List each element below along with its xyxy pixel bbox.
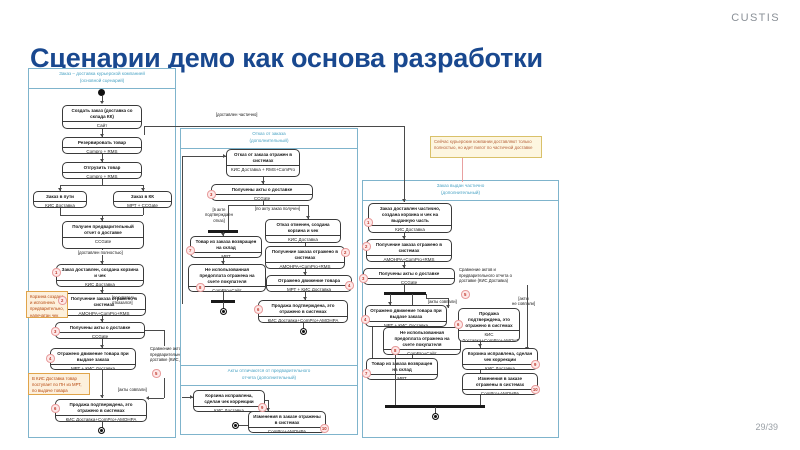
node-sale-confirmed-partial-system: КИС Доставка+ComPro+АМОНРА [459, 330, 519, 342]
arrow-goodsmove-sale [100, 395, 104, 398]
node-changes-reflected-system: ComPro+АМОНРА [249, 427, 325, 433]
node-order-received-partial-title: Получение заказа отражено в системах [367, 240, 451, 255]
end-node-main [98, 427, 105, 434]
node-refusal-cancelled[interactable]: Отказ отменен, создана корзина и чек КИС… [265, 219, 341, 243]
node-goods-move-refusal[interactable]: Отражено движение товара МРТ + КИС Доста… [266, 275, 352, 292]
edge-changes-partial-down [480, 395, 481, 405]
company-logo: CUSTIS [731, 12, 780, 24]
node-acts-received-partial-title: Получены акты о доставке [364, 269, 454, 278]
guard-acts-not-matched-partial: [акты не совпали] [512, 296, 535, 307]
node-in-transit-system: КИС Доставка [34, 201, 86, 208]
node-order-received-partial-system: АМОНРА+ComPro+RMS [367, 255, 451, 262]
end-node-refusal-2 [220, 308, 227, 315]
node-in-transit[interactable]: Заказ в пути КИС Доставка [33, 191, 87, 208]
node-sale-confirmed-title: Продажа подтверждена, это отражено в сис… [56, 400, 146, 415]
node-create-order-system: Сайт [63, 121, 141, 129]
node-goods-move-title: Отражено движение товара при выдаче зака… [51, 349, 135, 364]
lane-refusal-title-line1: Отказ от заказа [252, 131, 285, 136]
arrow-into-actsdiff [190, 395, 193, 399]
node-partial-delivered-system: КИС Доставка [369, 225, 451, 233]
guard-acts-matched-main: [акты совпали] [118, 387, 147, 392]
node-acts-received-refusal-system: CCGate [212, 194, 312, 201]
guard-act-confirms-refusal-l2: подтверждаен [205, 212, 233, 217]
node-changes-reflected-partial-title: Изменения в заказе отражены в системах [463, 374, 537, 389]
start-node-main [98, 89, 105, 96]
edge-gm-partial-left [372, 327, 373, 358]
node-sale-confirmed-refusal-title: Продажа подтверждена, это отражено в сис… [259, 301, 347, 316]
node-goods-move-partial-title: Отражено движение товара при выдаче зака… [366, 306, 446, 321]
note-courier-pilot: Сейчас курьерские компании доставляют то… [430, 136, 542, 158]
step-badge-3-main: 3 [51, 327, 60, 336]
node-goods-move-partial[interactable]: Отражено движение товара при выдаче зака… [365, 305, 447, 327]
guard-delivered-partial-l1: [доставлен частично] [216, 112, 257, 117]
lane-main-title: Заказ – доставка курьерской компанией (о… [29, 69, 175, 89]
arrow-cart-changes [266, 408, 270, 411]
step-badge-9-acts: 9 [258, 403, 267, 412]
node-cart-corrected[interactable]: Корзина исправлена, сделан чек коррекции… [193, 390, 265, 412]
node-sale-confirmed-partial-title: Продажа подтверждена, это отражено в сис… [459, 309, 519, 330]
node-order-received-refusal[interactable]: Получение заказа отражено в системах АМО… [265, 246, 345, 269]
edge-changes-end [238, 425, 248, 426]
lane-acts-diff-title-line2: отчета (дополнительный) [242, 375, 296, 380]
node-partial-delivered-title: Заказ доставлен частично, создана корзин… [369, 204, 451, 225]
step-badge-10-acts: 10 [320, 424, 329, 433]
node-in-transit-title: Заказ в пути [34, 192, 86, 201]
node-refusal-cancelled-title: Отказ отменен, создана корзина и чек [266, 220, 340, 235]
node-cart-corrected-partial[interactable]: Корзина исправлена, сделан чек коррекции… [462, 348, 538, 370]
edge-goodsret-partial-join [395, 380, 396, 405]
node-goods-move-refusal-title: Отражено движение товара [267, 276, 351, 285]
node-ship-system: Compro + RMS [63, 172, 141, 179]
node-goods-returned-refusal-title: Товар из заказа возвращен на склад [191, 237, 261, 252]
step-badge-8-partial: 8 [391, 346, 400, 355]
end-node-partial [432, 413, 439, 420]
step-badge-3-refusal: 3 [207, 190, 216, 199]
guard-act-confirms-refusal-l1: [в акте [212, 207, 225, 212]
guard-buyer-refused: [покупатель отказался] [112, 295, 146, 306]
step-badge-6-partial: 6 [454, 320, 463, 329]
diagram-canvas: Заказ – доставка курьерской компанией (о… [0, 60, 800, 450]
node-in-kk-title: Заказ в КК [114, 192, 171, 201]
edge-acts-partial-down [404, 285, 405, 292]
arrow-into-refusal [223, 154, 226, 158]
guard-delivered-full: [доставлен полностью] [78, 250, 123, 255]
step-badge-1-partial: 1 [364, 218, 373, 227]
node-create-order[interactable]: Создать заказ (доставка со склада КК) Са… [62, 105, 142, 129]
node-prelim-report[interactable]: Получен предварительный отчет о доставке… [62, 221, 144, 249]
step-badge-3-partial: 3 [359, 274, 368, 283]
edge-into-refusal-v [182, 156, 183, 304]
arrow-into-partial [402, 199, 406, 202]
edge-prelim-to-partial [144, 126, 404, 127]
node-prelim-report-title: Получен предварительный отчет о доставке [63, 222, 143, 237]
edge-notmatched-v2 [527, 308, 528, 350]
node-order-received-partial[interactable]: Получение заказа отражено в системах АМО… [366, 239, 452, 262]
node-acts-received-refusal-title: Получены акты о доставке [212, 185, 312, 194]
guard-act-order-received: [по акту заказ получен] [255, 206, 300, 211]
lane-refusal-title-line2: (дополнительный) [250, 138, 289, 143]
lane-refusal-title: Отказ от заказа (дополнительный) [181, 129, 357, 149]
node-delivered-title: Заказ доставлен, создана корзина и чек [57, 265, 143, 280]
node-goods-returned-partial-title: Товар из заказа возвращен на склад [367, 359, 437, 374]
node-order-received-refusal-title: Получение заказа отражено в системах [266, 247, 344, 262]
edge-compare-main-tail [164, 378, 165, 398]
step-badge-2-partial: 2 [362, 242, 371, 251]
edge-acts-to-compare [145, 330, 164, 331]
node-goods-move-system: МРТ + КИС Доставка [51, 364, 135, 370]
node-refusal-cancelled-system: КИС Доставка [266, 235, 340, 243]
step-badge-2-main: 2 [58, 296, 67, 305]
node-ship[interactable]: Отгрузить товар Compro + RMS [62, 162, 142, 179]
node-in-kk[interactable]: Заказ в КК МРТ + CCGate [113, 191, 172, 208]
guard-acts-matched-partial: [акты совпали] [428, 299, 457, 304]
step-badge-2-refusal: 2 [341, 248, 350, 257]
end-node-acts-diff [232, 422, 239, 429]
node-refusal-reflected-title: Отказ от заказа отражен в системах [227, 150, 299, 165]
step-badge-4-partial: 4 [361, 315, 370, 324]
step-badge-7-partial: 7 [362, 369, 371, 378]
node-acts-received-refusal[interactable]: Получены акты о доставке CCGate [211, 184, 313, 201]
compare-partial: Сравнение актов и предварительного отчет… [459, 267, 515, 284]
guard-acts-not-matched-l2: не совпали] [512, 301, 535, 306]
node-refusal-reflected[interactable]: Отказ от заказа отражен в системах КИС Д… [226, 149, 300, 177]
node-changes-reflected-title: Изменения в заказе отражены в системах [249, 412, 325, 427]
step-badge-5-main: 5 [152, 369, 161, 378]
guard-act-confirms-refusal-l3: отказ] [213, 218, 224, 223]
node-partial-delivered[interactable]: Заказ доставлен частично, создана корзин… [368, 203, 452, 233]
lane-partial-title-line1: Заказ выдан частично [437, 183, 485, 188]
step-badge-6-refusal: 6 [254, 305, 263, 314]
node-in-kk-system: МРТ + CCGate [114, 201, 171, 208]
node-ship-title: Отгрузить товар [63, 163, 141, 172]
node-acts-received-partial[interactable]: Получены акты о доставке CCGate [363, 268, 455, 285]
node-sale-confirmed-refusal-system: КИС Доставка+ComPro+АМОНРА [259, 316, 347, 323]
guard-delivered-partial: [доставлен частично] [216, 112, 257, 117]
edge-prelim-up [144, 126, 145, 135]
node-goods-move[interactable]: Отражено движение товара при выдаче зака… [50, 348, 136, 370]
node-prelim-report-system: CCGate [63, 237, 143, 247]
node-reserve-system: Compro + RMS [63, 147, 141, 154]
node-delivered-system: КИС Доставка [57, 280, 143, 287]
node-goods-returned-partial[interactable]: Товар из заказа возвращен на склад МРТ [366, 358, 438, 380]
step-badge-6-main: 6 [51, 404, 60, 413]
node-changes-reflected[interactable]: Изменения в заказе отражены в системах C… [248, 411, 326, 433]
edge-notmatched-v [527, 285, 528, 310]
node-cart-corrected-title: Корзина исправлена, сделан чек коррекции [194, 391, 264, 406]
lane-main-title-line2: (основной сценарий) [80, 78, 125, 83]
guard-buyer-refused-text: [покупатель отказался] [112, 295, 135, 305]
node-cart-corrected-partial-title: Корзина исправлена, сделан чек коррекции [463, 349, 537, 364]
node-cart-corrected-partial-system: КИС Доставка [463, 364, 537, 370]
node-acts-received-partial-system: CCGate [364, 278, 454, 285]
arrow-start-create [100, 101, 104, 104]
lane-partial-title: Заказ выдан частично (дополнительный) [363, 181, 558, 201]
step-badge-8-refusal: 8 [196, 283, 205, 292]
step-badge-4-refusal: 4 [345, 281, 354, 290]
node-order-received-refusal-system: АМОНРА+ComPro+RMS [266, 262, 344, 269]
edge-into-refusal [182, 156, 226, 157]
node-sale-confirmed-refusal[interactable]: Продажа подтверждена, это отражено в сис… [258, 300, 348, 323]
lane-partial-title-line2: (дополнительный) [441, 190, 480, 195]
edge-refcancel-received [305, 243, 306, 246]
lane-acts-diff-title: Акты отличаются от предварительного отче… [181, 366, 357, 386]
step-badge-7-refusal: 7 [186, 246, 195, 255]
edge-prepay-partial-down [395, 355, 396, 380]
note-kis-delivery: В КИС Доставка товар поступает по ПН из … [28, 373, 90, 395]
edge-fork-transit-kk [60, 185, 143, 186]
edge-note-pilot [462, 158, 463, 182]
step-badge-9-partial: 9 [531, 360, 540, 369]
step-badge-1-main: 1 [52, 268, 61, 277]
step-badge-4-main: 4 [46, 354, 55, 363]
node-changes-reflected-partial[interactable]: Изменения в заказе отражены в системах C… [462, 373, 538, 395]
node-goods-returned-partial-system: МРТ [367, 374, 437, 380]
edge-transit-join [60, 208, 61, 215]
edge-into-partial [404, 126, 405, 202]
node-sale-confirmed-system: КИС Доставка+ComPro+АМОНРА [56, 415, 146, 422]
arrow-sale-cart-partial [478, 344, 482, 347]
edge-prepay-end [223, 292, 224, 300]
node-acts-received-title: Получены акты о доставке [56, 323, 144, 332]
node-reserve[interactable]: Резервировать товар Compro + RMS [62, 137, 142, 154]
node-order-received-system: АМОНРА+ComPro+RMS [63, 309, 145, 316]
lane-main-title-line1: Заказ – доставка курьерской компанией [59, 71, 145, 76]
node-goods-returned-refusal-system: МРТ [191, 252, 261, 258]
guard-act-confirms-refusal: [в акте подтверждаен отказ] [205, 207, 233, 223]
node-goods-returned-refusal[interactable]: Товар из заказа возвращен на склад МРТ [190, 236, 262, 258]
arrow-compare-main-left [146, 396, 149, 400]
edge-cart-changes-partial [480, 370, 481, 373]
edge-kk-join [143, 208, 144, 215]
node-acts-received-system: CCGate [56, 332, 144, 339]
edge-goodsmove-sale [102, 370, 103, 398]
edge-cart-changes-h [265, 400, 268, 401]
edge-compare-main-down [164, 339, 165, 346]
edge-acts-to-compare-v [164, 330, 165, 339]
node-sale-confirmed[interactable]: Продажа подтверждена, это отражено в сис… [55, 399, 147, 422]
end-node-refusal [300, 328, 307, 335]
edge-compare-main-left [148, 398, 164, 399]
step-badge-10-partial: 10 [531, 385, 540, 394]
node-sale-confirmed-partial[interactable]: Продажа подтверждена, это отражено в сис… [458, 308, 520, 342]
node-delivered[interactable]: Заказ доставлен, создана корзина и чек К… [56, 264, 144, 287]
lane-acts-diff-title-line1: Акты отличаются от предварительного [228, 368, 311, 373]
node-changes-reflected-partial-system: ComPro+АМОНРА [463, 389, 537, 395]
compare-partial-text: Сравнение актов и предварительного отчет… [459, 267, 512, 283]
node-refusal-reflected-system: КИС Доставка + RMS+ComPro [227, 165, 299, 175]
node-acts-received[interactable]: Получены акты о доставке CCGate [55, 322, 145, 339]
step-badge-5-partial: 5 [461, 290, 470, 299]
node-goods-move-refusal-system: МРТ + КИС Доставка [267, 285, 351, 292]
node-reserve-title: Резервировать товар [63, 138, 141, 147]
node-create-order-title: Создать заказ (доставка со склада КК) [63, 106, 141, 121]
